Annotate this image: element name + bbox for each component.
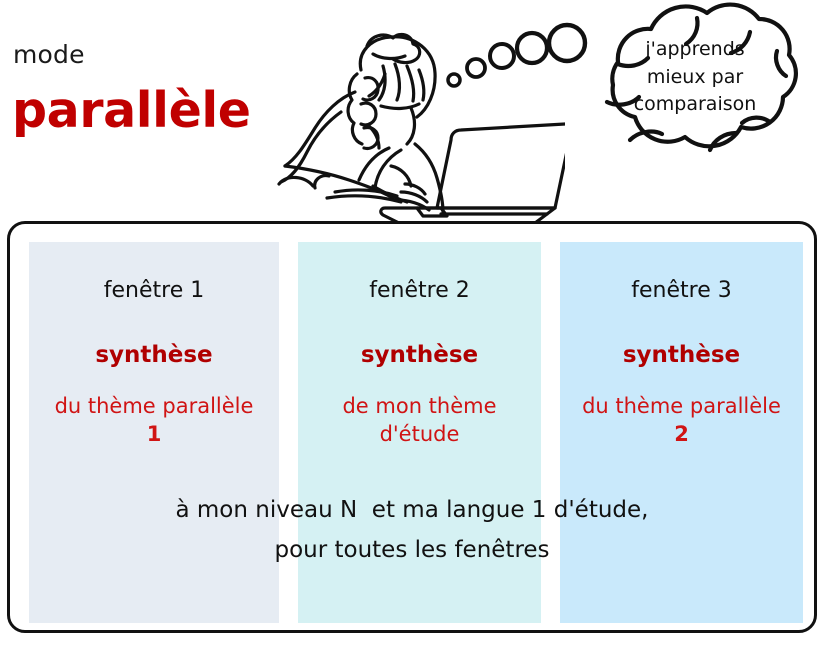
header: mode parallèle <box>0 0 829 222</box>
window-panel-2[interactable]: fenêtre 2 synthèse de mon thème d'étude <box>298 242 541 623</box>
panel-2-synthese: synthèse <box>298 344 541 367</box>
panel-3-sub-line-1: du thème parallèle <box>556 392 807 420</box>
thought-line-2: mieux par <box>600 64 790 92</box>
thought-line-1: j'apprends <box>600 36 790 64</box>
window-panel-1[interactable]: fenêtre 1 synthèse du thème parallèle 1 <box>29 242 279 623</box>
thought-line-3: comparaison <box>600 91 790 119</box>
mode-label: mode <box>13 42 85 67</box>
panel-1-sub-line-2: 1 <box>25 420 283 448</box>
page-title: parallèle <box>12 86 251 135</box>
panel-1-sub-line-1: du thème parallèle <box>25 392 283 420</box>
panel-3-title: fenêtre 3 <box>560 280 803 302</box>
panel-3-sub-line-2: 2 <box>556 420 807 448</box>
panel-2-subtitle: de mon thème d'étude <box>294 392 545 449</box>
panel-3-synthese: synthèse <box>560 344 803 367</box>
panel-1-subtitle: du thème parallèle 1 <box>25 392 283 449</box>
thought-bubble-text: j'apprends mieux par comparaison <box>600 36 790 119</box>
window-panel-3[interactable]: fenêtre 3 synthèse du thème parallèle 2 <box>560 242 803 623</box>
panel-1-synthese: synthèse <box>29 344 279 367</box>
panel-1-title: fenêtre 1 <box>29 280 279 302</box>
windows-frame: fenêtre 1 synthèse du thème parallèle 1 … <box>7 221 817 633</box>
panel-2-title: fenêtre 2 <box>298 280 541 302</box>
panel-2-sub-line-2: d'étude <box>294 420 545 448</box>
panel-3-subtitle: du thème parallèle 2 <box>556 392 807 449</box>
panel-2-sub-line-1: de mon thème <box>294 392 545 420</box>
